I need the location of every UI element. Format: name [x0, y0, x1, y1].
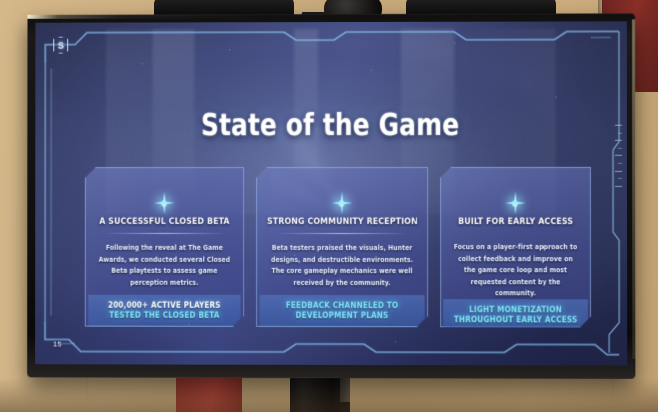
- screen-dust: [371, 70, 372, 71]
- card-corner-accent: [439, 166, 452, 179]
- sparkle-diamond-icon: [151, 191, 177, 215]
- card-title: BUILT FOR EARLY ACCESS: [458, 217, 573, 227]
- page-number: 15: [53, 340, 62, 349]
- card-notch-left: [253, 238, 258, 256]
- card-successful-closed-beta: A SUCCESSFUL CLOSED BETA Following the r…: [85, 167, 244, 327]
- sparkle-diamond-icon: [502, 191, 528, 215]
- screen-dust: [454, 42, 455, 43]
- card-built-for-early-access: BUILT FOR EARLY ACCESS Focus on a player…: [440, 167, 591, 328]
- slide-art-pillar: [401, 29, 454, 208]
- card-highlight-banner: LIGHT MONETIZATION THROUGHOUT EARLY ACCE…: [443, 299, 588, 331]
- card-highlight-line-2: THROUGHOUT EARLY ACCESS: [451, 314, 580, 325]
- bezel-highlight-top: [27, 13, 635, 18]
- card-body-text: Beta testers praised the visuals, Hunter…: [270, 242, 414, 295]
- bezel-highlight-right: [632, 19, 635, 358]
- card-body-text: Following the reveal at The Game Awards,…: [98, 242, 230, 295]
- card-corner-accent: [255, 166, 268, 179]
- card-corner-accent: [84, 166, 97, 179]
- card-highlight-line-1: FEEDBACK CHANNELED TO: [267, 300, 417, 311]
- card-strong-community-reception: STRONG COMMUNITY RECEPTION Beta testers …: [256, 167, 428, 327]
- hexagon-badge-icon: S: [53, 37, 68, 54]
- hud-side-ticks: [615, 125, 622, 187]
- sparkle-diamond-icon: [329, 191, 355, 215]
- card-highlight-banner: FEEDBACK CHANNELED TO DEVELOPMENT PLANS: [259, 295, 424, 327]
- card-notch-right: [589, 238, 594, 256]
- card-divider: [104, 233, 225, 234]
- page-title: State of the Game: [59, 108, 603, 144]
- sparkle-core: [338, 200, 345, 207]
- tv-screen: S 15 State of the Game A SUCCESSFUL CLOS…: [35, 21, 627, 365]
- card-highlight-line-2: TESTED THE CLOSED BETA: [96, 310, 234, 321]
- cards-row: A SUCCESSFUL CLOSED BETA Following the r…: [85, 167, 591, 328]
- card-notch-right: [426, 238, 431, 256]
- card-highlight-line-2: DEVELOPMENT PLANS: [267, 310, 417, 321]
- card-body-text: Focus on a player-first approach to coll…: [454, 241, 578, 299]
- sparkle-core: [161, 199, 168, 206]
- floor-shadow: [0, 378, 658, 412]
- card-title: A SUCCESSFUL CLOSED BETA: [99, 217, 229, 227]
- card-title: STRONG COMMUNITY RECEPTION: [267, 217, 418, 227]
- sparkle-core: [512, 200, 519, 207]
- card-notch-right: [242, 238, 247, 256]
- card-highlight-line-1: 200,000+ ACTIVE PLAYERS: [96, 300, 234, 311]
- card-highlight-banner: 200,000+ ACTIVE PLAYERS TESTED THE CLOSE…: [88, 295, 241, 327]
- television: S 15 State of the Game A SUCCESSFUL CLOS…: [27, 13, 635, 379]
- screen-dust: [556, 97, 557, 98]
- card-highlight-line-1: LIGHT MONETIZATION: [451, 304, 580, 315]
- photo-scene: S 15 State of the Game A SUCCESSFUL CLOS…: [0, 0, 658, 412]
- card-divider: [276, 233, 408, 234]
- card-notch-left: [437, 238, 442, 256]
- screen-dust: [395, 341, 396, 342]
